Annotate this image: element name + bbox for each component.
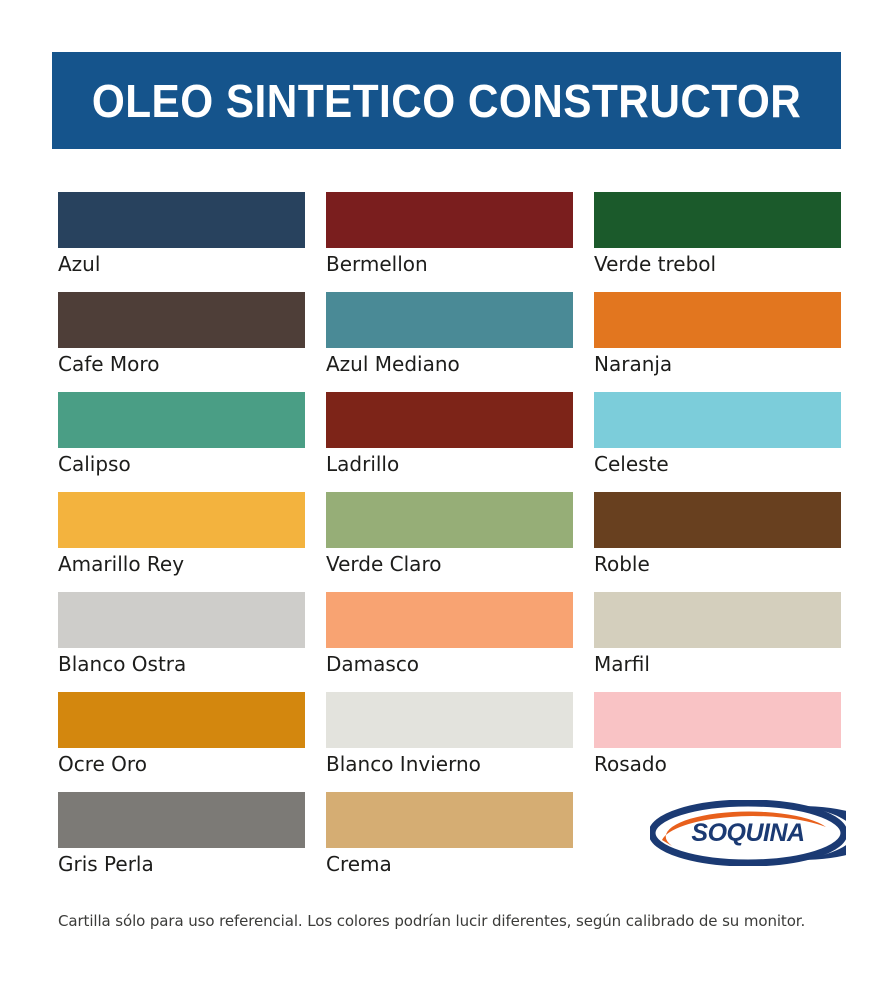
color-swatch-cell[interactable]: Crema (326, 792, 573, 892)
color-swatch-cell[interactable]: Azul Mediano (326, 292, 573, 392)
color-swatch-cell[interactable]: Damasco (326, 592, 573, 692)
color-swatch-cell[interactable]: Rosado (594, 692, 841, 792)
color-swatch (58, 392, 305, 448)
color-swatch (326, 392, 573, 448)
color-swatch-label: Crema (326, 853, 573, 875)
disclaimer-note: Cartilla sólo para uso referencial. Los … (58, 912, 858, 930)
color-swatch-label: Verde Claro (326, 553, 573, 575)
color-swatch-cell[interactable]: Blanco Ostra (58, 592, 305, 692)
color-swatch-cell[interactable]: Ocre Oro (58, 692, 305, 792)
color-swatch (326, 692, 573, 748)
color-swatch-label: Azul Mediano (326, 353, 573, 375)
color-swatch (594, 492, 841, 548)
color-swatch (58, 492, 305, 548)
color-swatch (594, 392, 841, 448)
color-swatch-cell[interactable]: Verde Claro (326, 492, 573, 592)
color-swatch-cell[interactable]: Calipso (58, 392, 305, 492)
color-swatch-label: Naranja (594, 353, 841, 375)
color-swatch-cell[interactable]: Azul (58, 192, 305, 292)
color-swatch (58, 692, 305, 748)
color-swatch-label: Celeste (594, 453, 841, 475)
color-swatch-cell[interactable]: Amarillo Rey (58, 492, 305, 592)
color-swatch-cell[interactable]: Verde trebol (594, 192, 841, 292)
color-swatch-label: Blanco Invierno (326, 753, 573, 775)
color-swatch (326, 792, 573, 848)
color-swatch-cell[interactable]: Marfil (594, 592, 841, 692)
title-banner: OLEO SINTETICO CONSTRUCTOR (52, 52, 841, 149)
color-swatch (326, 592, 573, 648)
color-swatch (326, 292, 573, 348)
color-swatch-label: Verde trebol (594, 253, 841, 275)
color-swatch-label: Gris Perla (58, 853, 305, 875)
color-swatch (594, 592, 841, 648)
color-swatch-cell[interactable]: Gris Perla (58, 792, 305, 892)
color-swatch (58, 592, 305, 648)
color-swatch (326, 492, 573, 548)
color-swatch-label: Calipso (58, 453, 305, 475)
color-swatch-label: Rosado (594, 753, 841, 775)
page-title: OLEO SINTETICO CONSTRUCTOR (92, 78, 801, 124)
color-swatch-cell[interactable]: Roble (594, 492, 841, 592)
color-swatch-cell[interactable]: Bermellon (326, 192, 573, 292)
color-swatch-label: Azul (58, 253, 305, 275)
color-swatch-label: Ocre Oro (58, 753, 305, 775)
color-swatch (594, 692, 841, 748)
color-swatch (326, 192, 573, 248)
color-swatch-label: Amarillo Rey (58, 553, 305, 575)
color-swatch (58, 792, 305, 848)
color-swatch (58, 192, 305, 248)
color-swatch-cell[interactable]: Celeste (594, 392, 841, 492)
color-swatch (58, 292, 305, 348)
soquina-logo: SOQUINA (650, 800, 846, 866)
color-swatch-label: Marfil (594, 653, 841, 675)
color-swatch-label: Roble (594, 553, 841, 575)
color-swatch-cell[interactable]: Blanco Invierno (326, 692, 573, 792)
color-swatch-label: Blanco Ostra (58, 653, 305, 675)
color-swatch (594, 292, 841, 348)
color-swatch-label: Bermellon (326, 253, 573, 275)
color-swatch-label: Ladrillo (326, 453, 573, 475)
color-swatch-cell[interactable]: Ladrillo (326, 392, 573, 492)
color-swatch (594, 192, 841, 248)
color-swatch-cell[interactable]: Cafe Moro (58, 292, 305, 392)
logo-wordmark: SOQUINA (691, 819, 804, 847)
color-swatch-cell[interactable]: Naranja (594, 292, 841, 392)
color-swatch-label: Cafe Moro (58, 353, 305, 375)
color-swatch-label: Damasco (326, 653, 573, 675)
color-swatch-grid: AzulBermellonVerde trebolCafe MoroAzul M… (58, 192, 844, 892)
